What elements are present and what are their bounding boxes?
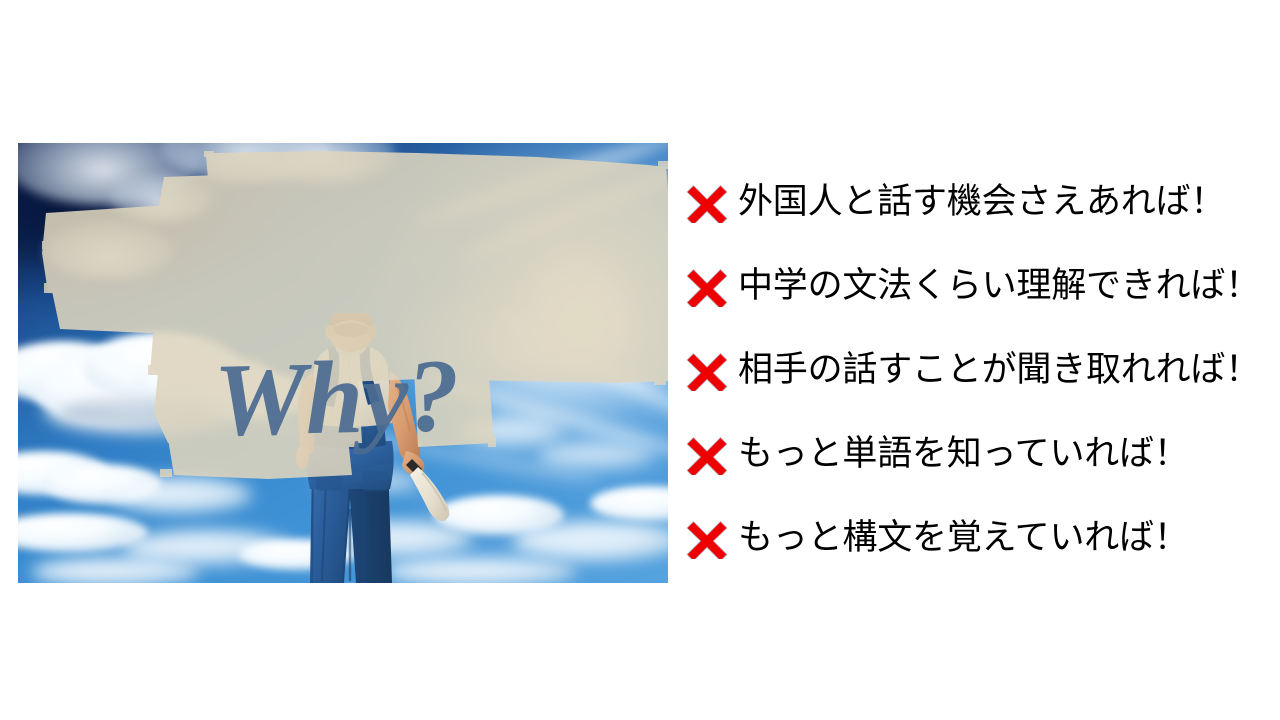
- hero-photo: Why?: [18, 143, 668, 583]
- list-item-label: 外国人と話す機会さえあれば！: [738, 182, 1266, 222]
- red-cross-mark-icon: [686, 265, 728, 307]
- list-item: 中学の文法くらい理解できれば！: [686, 244, 1266, 328]
- list-item: 相手の話すことが聞き取れれば！: [686, 328, 1266, 412]
- slide-canvas: Why? 外国人と話す機会さえあれば！ 中学の文法くらい理解できれば！: [0, 0, 1280, 720]
- why-headline: Why?: [213, 336, 505, 462]
- red-cross-mark-icon: [686, 349, 728, 391]
- red-cross-mark-icon: [686, 181, 728, 223]
- list-item: 外国人と話す機会さえあれば！: [686, 160, 1266, 244]
- red-cross-mark-icon: [686, 433, 728, 475]
- list-item-label: 相手の話すことが聞き取れれば！: [738, 350, 1266, 390]
- reason-list: 外国人と話す機会さえあれば！ 中学の文法くらい理解できれば！ 相手の話すことが聞…: [686, 160, 1266, 580]
- list-item-label: もっと単語を知っていれば！: [738, 434, 1266, 474]
- list-item-label: もっと構文を覚えていれば！: [738, 518, 1266, 558]
- list-item-label: 中学の文法くらい理解できれば！: [738, 266, 1266, 306]
- red-cross-mark-icon: [686, 517, 728, 559]
- list-item: もっと構文を覚えていれば！: [686, 496, 1266, 580]
- list-item: もっと単語を知っていれば！: [686, 412, 1266, 496]
